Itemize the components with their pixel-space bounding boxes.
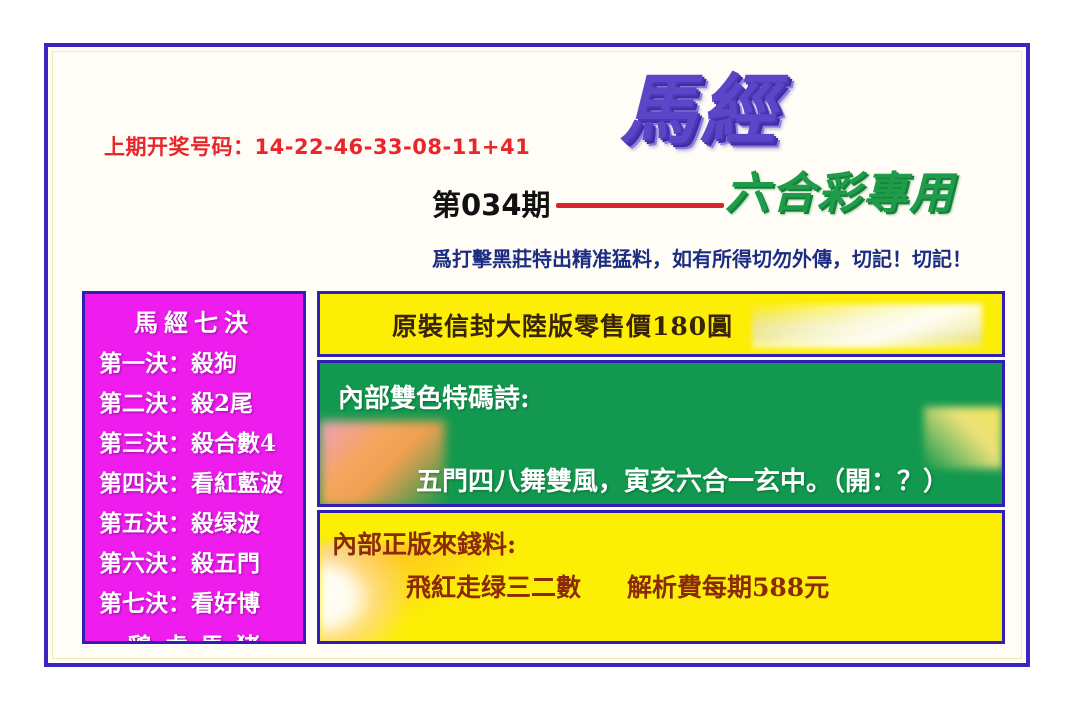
decision-row-2: 第二決：殺2尾 [85, 384, 303, 418]
seven-decisions-panel: 馬經七決 第一決：殺狗 第二決：殺2尾 第三決：殺合數4 第四決：看紅藍波 第五… [82, 291, 306, 644]
last-draw-numbers: 上期开奖号码：14-22-46-33-08-11+41 [104, 131, 530, 161]
decision-row-5: 第五決：殺绿波 [85, 504, 303, 538]
zodiac-row: 鶏虎馬猪 [85, 627, 303, 644]
decision-row-6: 第六決：殺五門 [85, 544, 303, 578]
brand-logo: 馬經 六合彩專用 [620, 72, 1020, 232]
logo-title-text: 馬經 [620, 72, 780, 148]
seven-decisions-title: 馬經七決 [85, 303, 303, 338]
issue-divider-rule [556, 203, 724, 208]
decision-row-4: 第四決：看紅藍波 [85, 464, 303, 498]
money-panel-label: 內部正版來錢料: [332, 525, 516, 561]
poem-panel-label: 內部雙色特碼詩: [338, 378, 530, 415]
money-panel: 內部正版來錢料: 飛紅走绿三二數解析費每期588元 [317, 510, 1005, 644]
money-panel-line-right: 解析費每期588元 [627, 573, 829, 602]
poem-panel-verse: 五門四八舞雙風，寅亥六合一玄中。（開：？） [416, 461, 949, 498]
price-banner-redaction [752, 304, 982, 348]
decision-row-1: 第一決：殺狗 [85, 344, 303, 378]
price-banner-text: 原裝信封大陸版零售價180圓 [392, 307, 733, 343]
decision-row-7: 第七決：看好博 [85, 584, 303, 618]
money-panel-line-left: 飛紅走绿三二數 [406, 573, 581, 602]
poem-panel-gradient-right [924, 407, 1002, 469]
issue-number: 第034期 [432, 182, 551, 224]
money-panel-line: 飛紅走绿三二數解析費每期588元 [406, 568, 829, 604]
price-banner-panel: 原裝信封大陸版零售價180圓 [317, 291, 1005, 357]
right-panel-column: 原裝信封大陸版零售價180圓 內部雙色特碼詩: 五門四八舞雙風，寅亥六合一玄中。… [317, 291, 1005, 644]
poster-page: 上期开奖号码：14-22-46-33-08-11+41 馬經 六合彩專用 第03… [0, 0, 1080, 719]
poem-panel: 內部雙色特碼詩: 五門四八舞雙風，寅亥六合一玄中。（開：？） [317, 360, 1005, 507]
decision-row-3: 第三決：殺合數4 [85, 424, 303, 458]
logo-subtitle-text: 六合彩專用 [725, 172, 955, 216]
tagline-text: 爲打擊黑莊特出精准猛料，如有所得切勿外傳，切記！切記！ [432, 243, 972, 272]
